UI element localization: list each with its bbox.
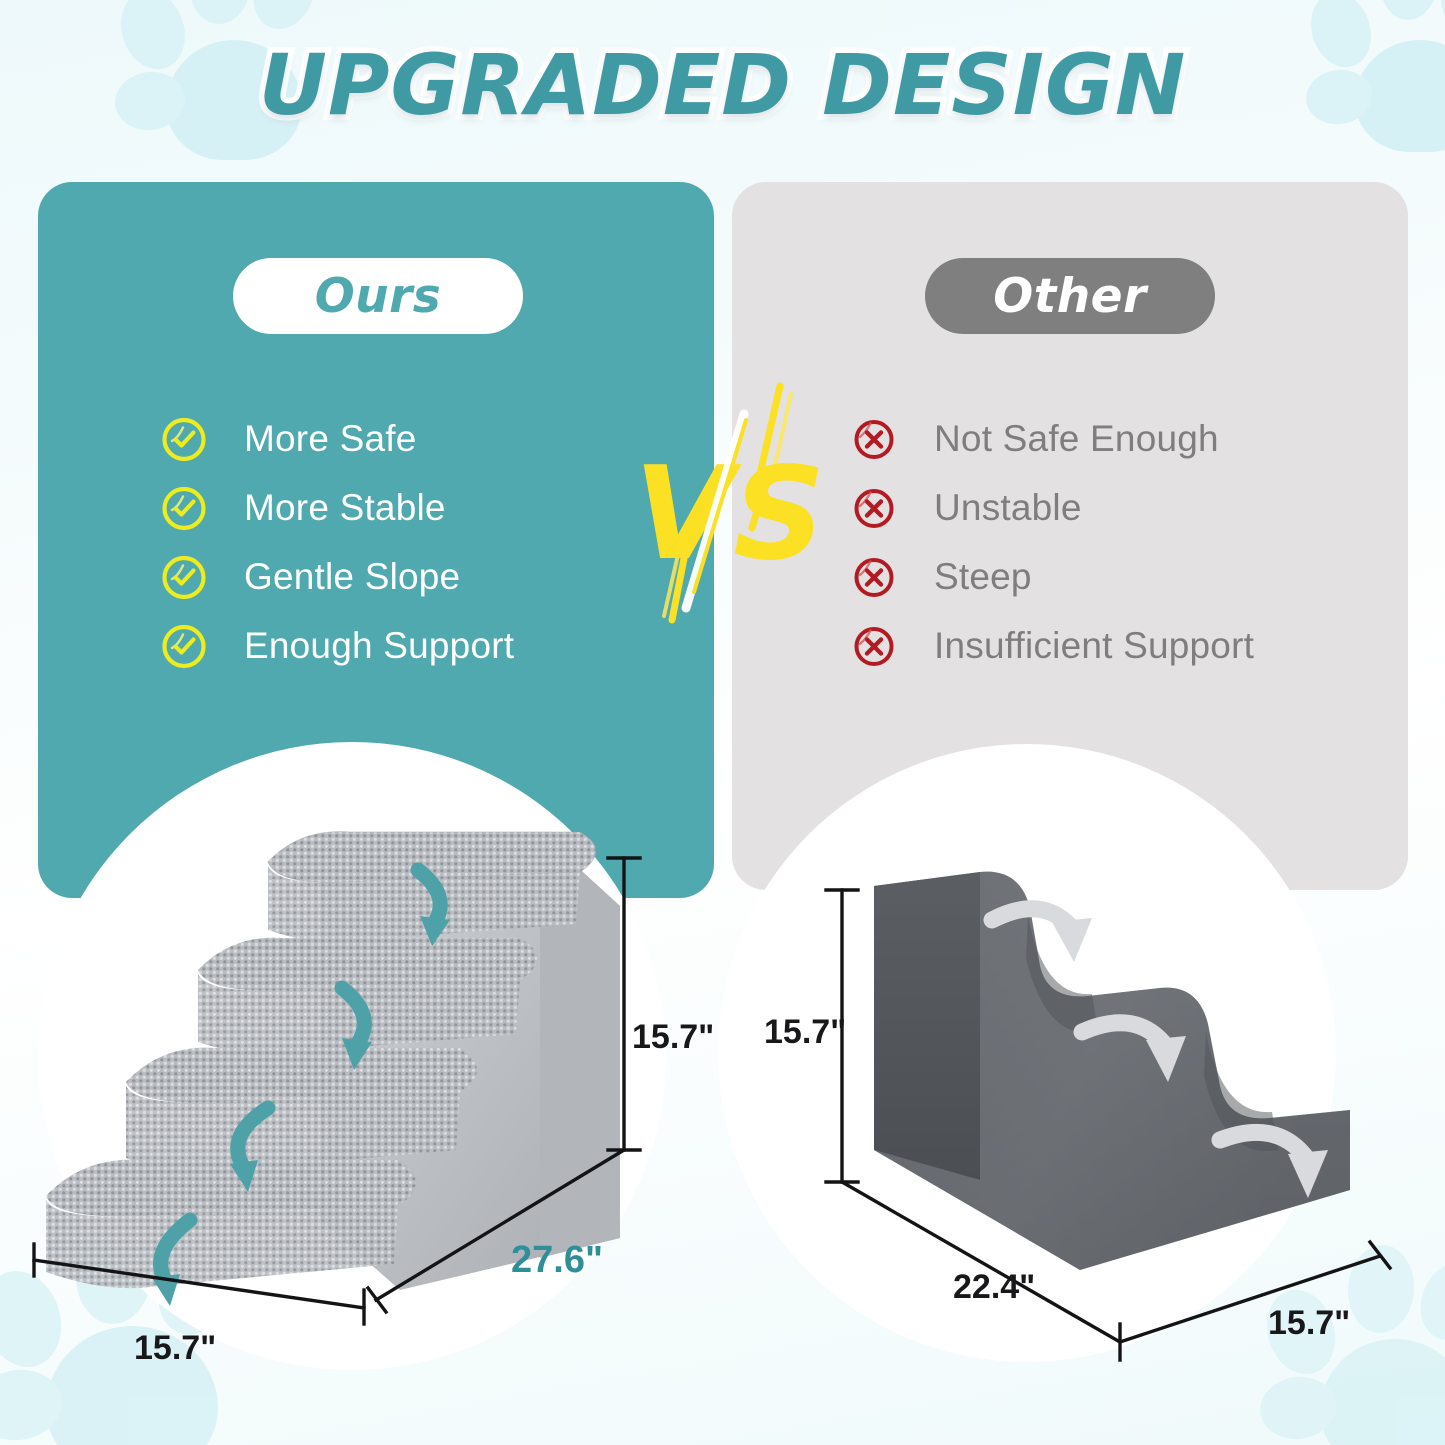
circle-check-icon	[160, 553, 208, 601]
circle-check-icon	[160, 415, 208, 463]
dimension-label-ours-depth: 27.6"	[511, 1239, 603, 1282]
feature-list-ours: More Safe More Stable Gentle Slope	[160, 404, 630, 680]
feature-label: Not Safe Enough	[934, 418, 1219, 460]
dimension-label-other-height: 15.7"	[764, 1013, 846, 1052]
page-title: UPGRADED DESIGN	[259, 36, 1187, 134]
feature-list-other: Not Safe Enough Unstable Steep	[850, 404, 1350, 680]
page-title-wrap: UPGRADED DESIGN	[0, 36, 1445, 134]
feature-row: Enough Support	[160, 611, 630, 680]
pill-other: Other	[925, 258, 1215, 334]
dimension-label-ours-height: 15.7"	[632, 1018, 714, 1057]
dimension-label-other-width: 15.7"	[1268, 1304, 1350, 1343]
dimension-label-other-depth: 22.4"	[953, 1268, 1035, 1307]
feature-label: More Stable	[244, 487, 446, 529]
feature-row: Steep	[850, 542, 1350, 611]
circle-check-icon	[160, 484, 208, 532]
dimension-lines-other	[790, 850, 1410, 1430]
feature-row: Unstable	[850, 473, 1350, 542]
pill-ours: Ours	[233, 258, 523, 334]
feature-row: Insufficient Support	[850, 611, 1350, 680]
circle-cross-icon	[850, 553, 898, 601]
feature-row: More Stable	[160, 473, 630, 542]
versus-badge: VS	[628, 378, 843, 628]
circle-cross-icon	[850, 484, 898, 532]
pill-ours-label: Ours	[315, 269, 442, 324]
infographic-root: UPGRADED DESIGN Ours Other More Safe	[0, 0, 1445, 1445]
feature-row: Gentle Slope	[160, 542, 630, 611]
pill-other-label: Other	[993, 269, 1146, 324]
dimension-label-ours-width: 15.7"	[134, 1329, 216, 1368]
circle-cross-icon	[850, 622, 898, 670]
circle-cross-icon	[850, 415, 898, 463]
feature-label: Insufficient Support	[934, 625, 1254, 667]
feature-label: Steep	[934, 556, 1032, 598]
circle-check-icon	[160, 622, 208, 670]
feature-label: More Safe	[244, 418, 417, 460]
feature-label: Enough Support	[244, 625, 514, 667]
dimension-lines-ours	[20, 820, 700, 1420]
feature-label: Unstable	[934, 487, 1082, 529]
feature-label: Gentle Slope	[244, 556, 460, 598]
feature-row: More Safe	[160, 404, 630, 473]
feature-row: Not Safe Enough	[850, 404, 1350, 473]
